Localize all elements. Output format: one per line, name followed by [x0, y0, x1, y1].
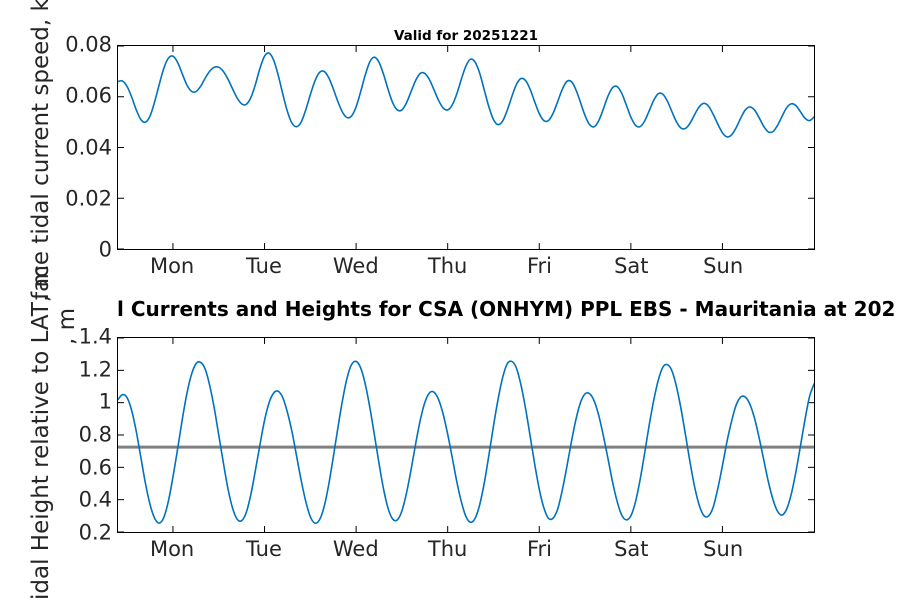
page-title-text: l Currents and Heights for CSA (ONHYM) P… [117, 297, 895, 321]
data-series-line [118, 361, 814, 523]
y-tick-label: 1 [99, 392, 112, 413]
x-tick-label: Sun [703, 256, 743, 277]
x-tick-label: Fri [527, 256, 552, 277]
y-tick-label: 0.8 [79, 425, 112, 446]
current-speed-plot [118, 46, 814, 249]
y-tick-label: 0.4 [79, 490, 112, 511]
x-axis-ticks-current: MonTueWedThuFriSatSun [117, 256, 815, 282]
y-tick-label: 0.2 [79, 523, 112, 544]
chart-subtitle: Valid for 20251221 [117, 28, 815, 44]
tidal-figure: Valid for 20251221 00.020.040.060.08 Mon… [0, 0, 900, 600]
y-tick-label: 0.04 [65, 137, 112, 158]
current-speed-axes [117, 45, 815, 250]
x-tick-label: Tue [246, 539, 282, 560]
y-tick-label: 0.6 [79, 457, 112, 478]
x-tick-label: Sat [614, 539, 648, 560]
x-tick-label: Wed [333, 539, 379, 560]
x-tick-label: Sat [614, 256, 648, 277]
y-tick-label: 1.4 [79, 327, 112, 348]
x-tick-label: Tue [246, 256, 282, 277]
y-tick-label: 0.06 [65, 86, 112, 107]
y-axis-label-height: idal Height relative to LAT, m [30, 265, 53, 600]
x-tick-label: Fri [527, 539, 552, 560]
x-axis-ticks-height: MonTueWedThuFriSatSun [117, 539, 815, 565]
x-tick-label: Mon [150, 539, 194, 560]
x-tick-label: Sun [703, 539, 743, 560]
x-tick-label: Mon [150, 256, 194, 277]
y-tick-label: 0.02 [65, 188, 112, 209]
data-series-line [118, 53, 814, 137]
y-axis-ticks-current: 00.020.040.060.08 [54, 45, 112, 250]
y-tick-label: 1.2 [79, 359, 112, 380]
x-tick-label: Thu [428, 256, 467, 277]
x-tick-label: Wed [333, 256, 379, 277]
x-tick-label: Thu [428, 539, 467, 560]
tidal-height-plot [118, 338, 814, 532]
y-tick-label: 0 [99, 240, 112, 261]
tidal-height-axes [117, 337, 815, 533]
y-axis-label-current: face tidal current speed, kn [30, 0, 53, 300]
y-tick-label: 0.08 [65, 35, 112, 56]
page-title: l Currents and Heights for CSA (ONHYM) P… [117, 297, 815, 321]
y-axis-ticks-height: 0.20.40.60.811.21.4 [54, 337, 112, 533]
